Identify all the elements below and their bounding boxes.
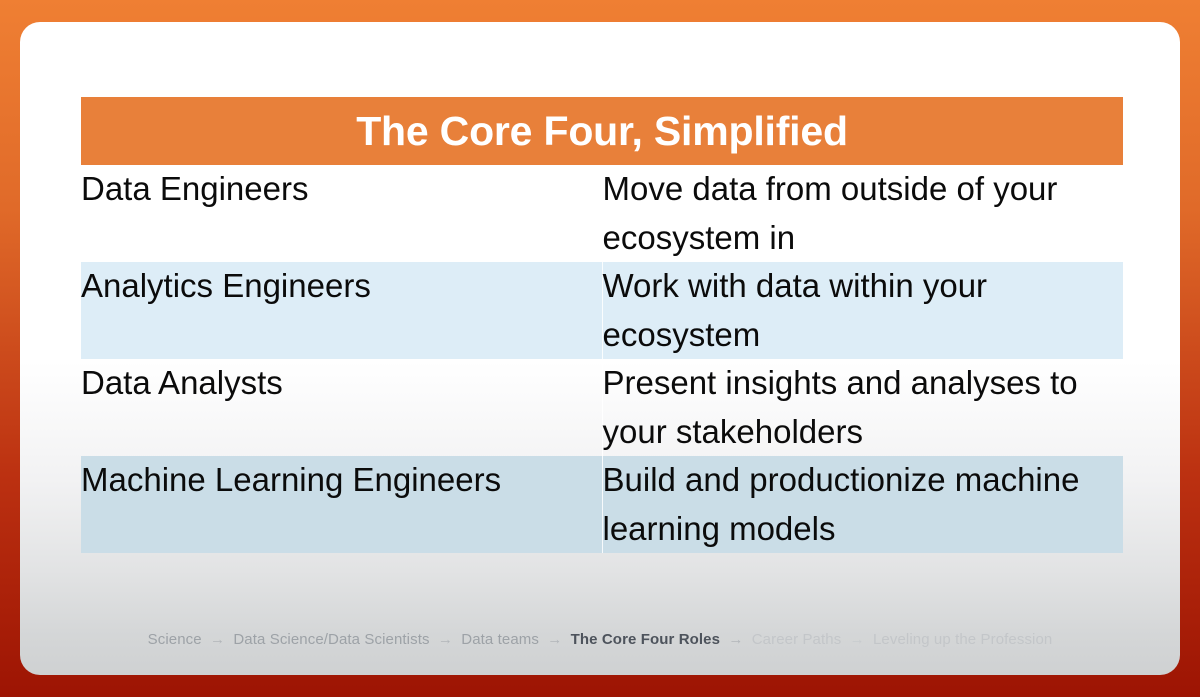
core-four-table: The Core Four, Simplified Data Engineers… <box>81 97 1123 553</box>
breadcrumb-arrow-icon: → <box>434 631 457 648</box>
breadcrumb-arrow-icon: → <box>724 631 747 648</box>
breadcrumb-item-data-science[interactable]: Data Science/Data Scientists <box>233 631 429 648</box>
role-description-cell: Work with data within your ecosystem <box>602 262 1123 359</box>
slide-frame: The Core Four, Simplified Data Engineers… <box>0 0 1200 697</box>
role-description-cell: Build and productionize machine learning… <box>602 456 1123 553</box>
role-description-cell: Move data from outside of your ecosystem… <box>602 165 1123 262</box>
role-name-cell: Data Analysts <box>81 359 602 456</box>
table-body: Data Engineers Move data from outside of… <box>81 165 1123 553</box>
table-row: Data Analysts Present insights and analy… <box>81 359 1123 456</box>
breadcrumb-item-leveling-up[interactable]: Leveling up the Profession <box>873 631 1052 648</box>
table-row: Data Engineers Move data from outside of… <box>81 165 1123 262</box>
breadcrumb-arrow-icon: → <box>543 631 566 648</box>
breadcrumb-item-data-teams[interactable]: Data teams <box>461 631 539 648</box>
table-row: Machine Learning Engineers Build and pro… <box>81 456 1123 553</box>
breadcrumb-arrow-icon: → <box>206 631 229 648</box>
role-name-cell: Machine Learning Engineers <box>81 456 602 553</box>
breadcrumb: Science → Data Science/Data Scientists →… <box>20 627 1180 653</box>
role-name-cell: Data Engineers <box>81 165 602 262</box>
role-description-cell: Present insights and analyses to your st… <box>602 359 1123 456</box>
breadcrumb-item-core-four-roles[interactable]: The Core Four Roles <box>571 631 720 648</box>
breadcrumb-item-science[interactable]: Science <box>148 631 202 648</box>
table-row: Analytics Engineers Work with data withi… <box>81 262 1123 359</box>
slide-card: The Core Four, Simplified Data Engineers… <box>20 22 1180 675</box>
table-title-row: The Core Four, Simplified <box>81 97 1123 165</box>
breadcrumb-item-career-paths[interactable]: Career Paths <box>752 631 842 648</box>
table-title: The Core Four, Simplified <box>81 97 1123 165</box>
role-name-cell: Analytics Engineers <box>81 262 602 359</box>
breadcrumb-arrow-icon: → <box>846 631 869 648</box>
table-header: The Core Four, Simplified <box>81 97 1123 165</box>
